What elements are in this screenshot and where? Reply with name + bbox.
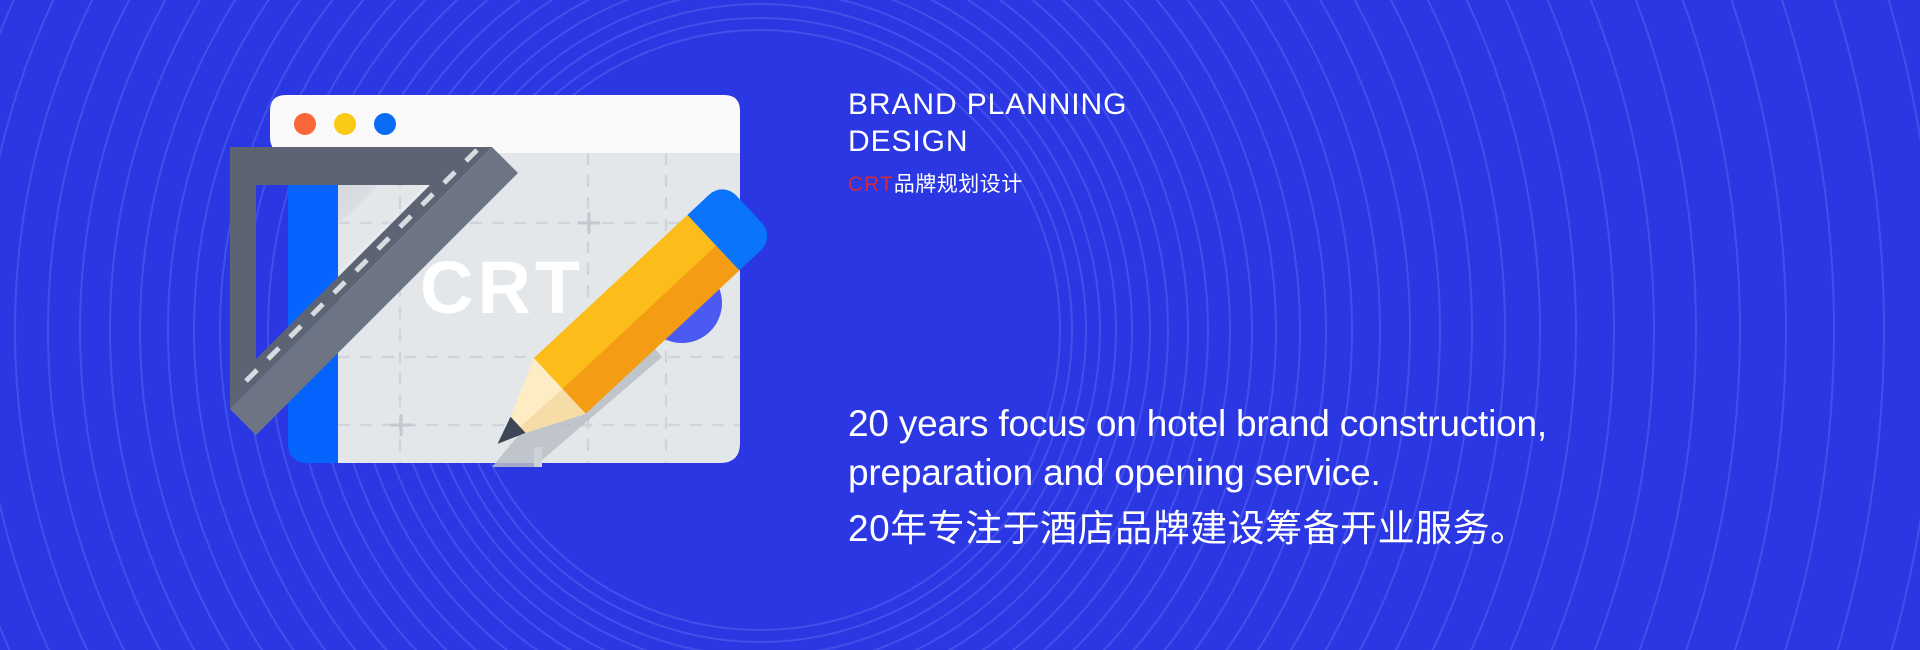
close-dot: [294, 113, 316, 135]
banner-copy-block: BRAND PLANNING DESIGN CRT品牌规划设计 20 years…: [848, 0, 1848, 650]
crt-brand-mark: CRT: [848, 173, 894, 196]
eyebrow-heading-cn: CRT品牌规划设计: [848, 168, 1023, 198]
brand-design-illustration: CRT: [270, 95, 770, 555]
headline-en: 20 years focus on hotel brand constructi…: [848, 400, 1678, 498]
maximize-dot: [374, 113, 396, 135]
minimize-dot: [334, 113, 356, 135]
eyebrow-heading-en: BRAND PLANNING DESIGN: [848, 86, 1368, 160]
eyebrow-heading-cn-text: 品牌规划设计: [894, 173, 1023, 196]
svg-text:CRT: CRT: [420, 246, 584, 329]
window-titlebar: [270, 95, 740, 153]
document-watermark: CRT: [420, 246, 584, 329]
headline-cn: 20年专注于酒店品牌建设筹备开业服务。: [848, 505, 1528, 553]
brand-banner: CRT: [0, 0, 1920, 650]
